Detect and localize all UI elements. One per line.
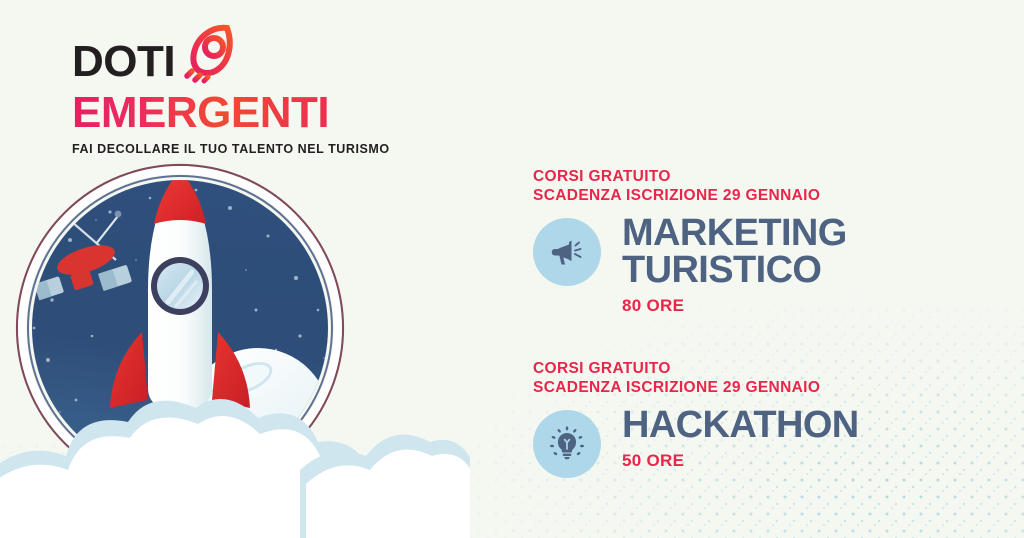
course-badge: [533, 218, 601, 286]
course-meta-line2: SCADENZA ISCRIZIONE 29 GENNAIO: [533, 379, 963, 398]
rocket-icon: [181, 22, 243, 84]
course-title-line1: HACKATHON: [622, 407, 859, 444]
course-meta: CORSI GRATUITO SCADENZA ISCRIZIONE 29 GE…: [533, 360, 963, 397]
course-text: MARKETING TURISTICO 80 ORE: [622, 214, 847, 316]
course-text: HACKATHON 50 ORE: [622, 406, 859, 471]
course-title-line1: MARKETING: [622, 215, 847, 252]
logo-word-emergenti: EMERGENTI: [72, 90, 390, 136]
course-card-marketing-turistico: CORSI GRATUITO SCADENZA ISCRIZIONE 29 GE…: [533, 168, 963, 316]
megaphone-icon: [548, 233, 586, 271]
course-hours: 50 ORE: [622, 451, 859, 471]
course-meta-line1: CORSI GRATUITO: [533, 168, 963, 187]
course-meta: CORSI GRATUITO SCADENZA ISCRIZIONE 29 GE…: [533, 168, 963, 205]
promo-banner: DOTI EMERGENTI FAI DECOLLARE IL TUO TALE…: [0, 0, 1024, 538]
course-badge: [533, 410, 601, 478]
logo: DOTI EMERGENTI FAI DECOLLARE IL TUO TALE…: [72, 40, 390, 156]
course-title-line2: TURISTICO: [622, 252, 847, 289]
logo-top-row: DOTI: [72, 40, 390, 88]
course-body: HACKATHON 50 ORE: [533, 406, 963, 478]
course-list: CORSI GRATUITO SCADENZA ISCRIZIONE 29 GE…: [533, 168, 963, 478]
logo-word-doti: DOTI: [72, 40, 175, 84]
course-hours: 80 ORE: [622, 296, 847, 316]
course-card-hackathon: CORSI GRATUITO SCADENZA ISCRIZIONE 29 GE…: [533, 360, 963, 478]
lightbulb-icon: [548, 425, 586, 463]
course-meta-line2: SCADENZA ISCRIZIONE 29 GENNAIO: [533, 187, 963, 206]
logo-tagline: FAI DECOLLARE IL TUO TALENTO NEL TURISMO: [72, 142, 390, 156]
rocket-launch-illustration: [0, 150, 470, 538]
course-meta-line1: CORSI GRATUITO: [533, 360, 963, 379]
course-body: MARKETING TURISTICO 80 ORE: [533, 214, 963, 316]
